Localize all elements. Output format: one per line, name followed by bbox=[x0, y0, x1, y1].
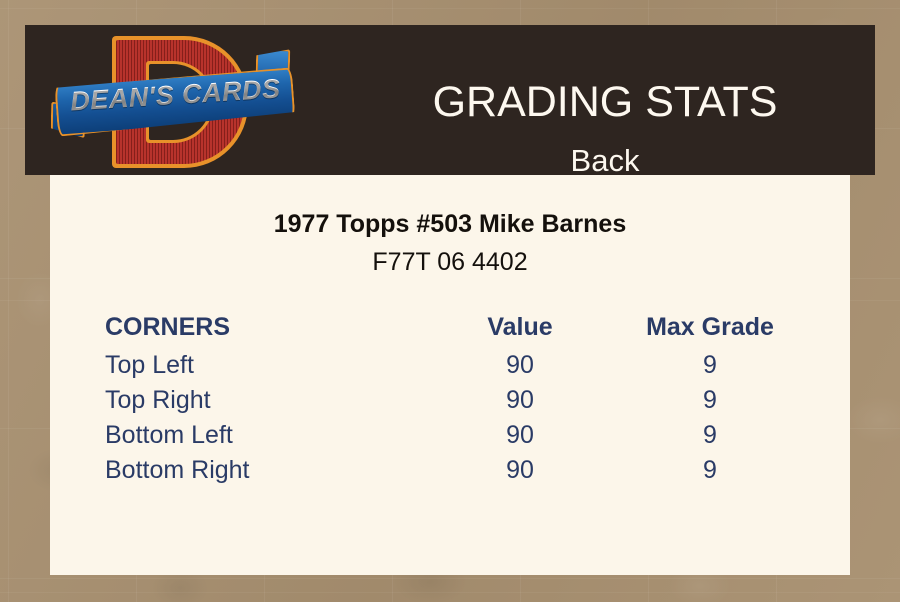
table-row: Top Right 90 9 bbox=[105, 383, 805, 418]
row-label: Bottom Right bbox=[105, 453, 425, 488]
deans-cards-logo[interactable]: DEAN'S CARDS bbox=[50, 28, 300, 173]
row-max-grade: 9 bbox=[615, 348, 805, 383]
column-header-corners: CORNERS bbox=[105, 310, 425, 348]
content-panel: 1977 Topps #503 Mike Barnes F77T 06 4402… bbox=[50, 175, 850, 575]
logo-ribbon-banner-icon: DEAN'S CARDS bbox=[48, 63, 302, 143]
table-row: Bottom Right 90 9 bbox=[105, 453, 805, 488]
column-header-value: Value bbox=[425, 310, 615, 348]
row-label: Top Left bbox=[105, 348, 425, 383]
row-value: 90 bbox=[425, 453, 615, 488]
row-value: 90 bbox=[425, 348, 615, 383]
card-serial-number: F77T 06 4402 bbox=[50, 248, 850, 277]
row-label: Bottom Left bbox=[105, 418, 425, 453]
table-body: Top Left 90 9 Top Right 90 9 Bottom Left… bbox=[105, 348, 805, 488]
row-max-grade: 9 bbox=[615, 453, 805, 488]
row-max-grade: 9 bbox=[615, 418, 805, 453]
card-title: 1977 Topps #503 Mike Barnes bbox=[50, 210, 850, 239]
table-row: Top Left 90 9 bbox=[105, 348, 805, 383]
page-subtitle: Back bbox=[325, 145, 885, 176]
row-label: Top Right bbox=[105, 383, 425, 418]
page-title: GRADING STATS bbox=[325, 80, 885, 125]
table-row: Bottom Left 90 9 bbox=[105, 418, 805, 453]
grading-stats-table: CORNERS Value Max Grade Top Left 90 9 To… bbox=[105, 310, 805, 488]
header-bar: DEAN'S CARDS GRADING STATS Back bbox=[25, 25, 875, 175]
table-header-row: CORNERS Value Max Grade bbox=[105, 310, 805, 348]
row-max-grade: 9 bbox=[615, 383, 805, 418]
column-header-max-grade: Max Grade bbox=[615, 310, 805, 348]
row-value: 90 bbox=[425, 383, 615, 418]
row-value: 90 bbox=[425, 418, 615, 453]
